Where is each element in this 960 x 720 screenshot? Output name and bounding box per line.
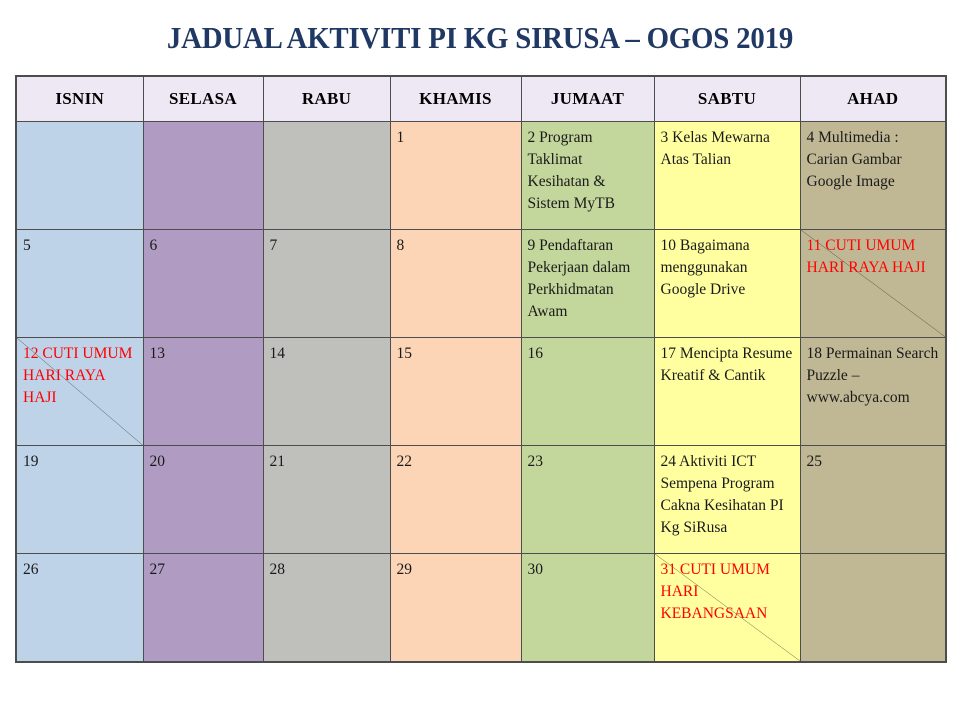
calendar-day-cell[interactable]: 17 Mencipta Resume Kreatif & Cantik: [654, 338, 800, 446]
calendar-day-cell[interactable]: 3 Kelas Mewarna Atas Talian: [654, 122, 800, 230]
calendar-day-content: 13: [144, 338, 263, 365]
calendar-header-label: JUMAAT: [551, 89, 624, 108]
calendar-day-content: [264, 122, 390, 127]
calendar-header-jumaat: JUMAAT: [521, 76, 654, 122]
calendar-day-content: [801, 554, 946, 559]
calendar-day-content: 27: [144, 554, 263, 581]
calendar-header-rabu: RABU: [263, 76, 390, 122]
calendar-header-label: KHAMIS: [419, 89, 492, 108]
calendar-day-content: 5: [17, 230, 143, 257]
calendar-day-content: 6: [144, 230, 263, 257]
calendar-day-content: 19: [17, 446, 143, 473]
calendar-day-content: 1: [391, 122, 521, 149]
calendar-day-cell[interactable]: 31 CUTI UMUM HARI KEBANGSAAN: [654, 554, 800, 663]
calendar-day-content: 14: [264, 338, 390, 365]
calendar-day-cell[interactable]: 9 Pendaftaran Pekerjaan dalam Perkhidmat…: [521, 230, 654, 338]
calendar-day-cell[interactable]: 8: [390, 230, 521, 338]
calendar-day-cell[interactable]: 11 CUTI UMUM HARI RAYA HAJI: [800, 230, 946, 338]
calendar-day-cell[interactable]: 26: [16, 554, 143, 663]
calendar-container: ISNINSELASARABUKHAMISJUMAATSABTUAHAD 12 …: [15, 75, 945, 663]
calendar-day-cell[interactable]: 16: [521, 338, 654, 446]
calendar-header-sabtu: SABTU: [654, 76, 800, 122]
calendar-day-cell[interactable]: 12 CUTI UMUM HARI RAYA HAJI: [16, 338, 143, 446]
calendar-day-content: 21: [264, 446, 390, 473]
calendar-day-cell[interactable]: 2 Program Taklimat Kesihatan & Sistem My…: [521, 122, 654, 230]
calendar-day-content: 15: [391, 338, 521, 365]
calendar-day-cell[interactable]: 24 Aktiviti ICT Sempena Program Cakna Ke…: [654, 446, 800, 554]
calendar-day-cell[interactable]: 19: [16, 446, 143, 554]
calendar-week-row: 12 Program Taklimat Kesihatan & Sistem M…: [16, 122, 946, 230]
calendar-day-content: 17 Mencipta Resume Kreatif & Cantik: [655, 338, 800, 387]
activity-calendar-table: ISNINSELASARABUKHAMISJUMAATSABTUAHAD 12 …: [15, 75, 947, 663]
calendar-day-content: 7: [264, 230, 390, 257]
calendar-day-content: [17, 122, 143, 127]
calendar-day-cell[interactable]: 10 Bagaimana menggunakan Google Drive: [654, 230, 800, 338]
calendar-day-cell[interactable]: 21: [263, 446, 390, 554]
calendar-day-cell[interactable]: 29: [390, 554, 521, 663]
calendar-day-content: 3 Kelas Mewarna Atas Talian: [655, 122, 800, 171]
calendar-day-cell[interactable]: 23: [521, 446, 654, 554]
calendar-day-content: 2 Program Taklimat Kesihatan & Sistem My…: [522, 122, 654, 215]
calendar-day-content: 16: [522, 338, 654, 365]
calendar-day-content: 12 CUTI UMUM HARI RAYA HAJI: [17, 338, 143, 409]
calendar-header-label: SABTU: [698, 89, 756, 108]
calendar-day-content: 11 CUTI UMUM HARI RAYA HAJI: [801, 230, 946, 279]
calendar-day-content: 18 Permainan Search Puzzle – www.abcya.c…: [801, 338, 946, 409]
calendar-day-content: 23: [522, 446, 654, 473]
calendar-day-cell[interactable]: 28: [263, 554, 390, 663]
calendar-page: JADUAL AKTIVITI PI KG SIRUSA – OGOS 2019…: [0, 0, 960, 720]
calendar-header: ISNINSELASARABUKHAMISJUMAATSABTUAHAD: [16, 76, 946, 122]
calendar-header-label: ISNIN: [55, 89, 104, 108]
calendar-day-cell[interactable]: 30: [521, 554, 654, 663]
calendar-week-row: 192021222324 Aktiviti ICT Sempena Progra…: [16, 446, 946, 554]
calendar-day-cell[interactable]: [16, 122, 143, 230]
calendar-day-content: [144, 122, 263, 127]
calendar-header-label: RABU: [302, 89, 351, 108]
calendar-header-khamis: KHAMIS: [390, 76, 521, 122]
calendar-day-cell[interactable]: 14: [263, 338, 390, 446]
calendar-day-cell[interactable]: [800, 554, 946, 663]
calendar-day-content: 10 Bagaimana menggunakan Google Drive: [655, 230, 800, 301]
calendar-day-content: 28: [264, 554, 390, 581]
calendar-header-row: ISNINSELASARABUKHAMISJUMAATSABTUAHAD: [16, 76, 946, 122]
calendar-day-cell[interactable]: 1: [390, 122, 521, 230]
calendar-week-row: 12 CUTI UMUM HARI RAYA HAJI1314151617 Me…: [16, 338, 946, 446]
calendar-day-cell[interactable]: 20: [143, 446, 263, 554]
calendar-day-cell[interactable]: 27: [143, 554, 263, 663]
calendar-day-content: 8: [391, 230, 521, 257]
calendar-week-row: 56789 Pendaftaran Pekerjaan dalam Perkhi…: [16, 230, 946, 338]
calendar-day-content: 25: [801, 446, 946, 473]
calendar-day-cell[interactable]: 25: [800, 446, 946, 554]
calendar-day-cell[interactable]: 13: [143, 338, 263, 446]
calendar-day-cell[interactable]: 15: [390, 338, 521, 446]
calendar-day-cell[interactable]: 5: [16, 230, 143, 338]
calendar-day-content: 9 Pendaftaran Pekerjaan dalam Perkhidmat…: [522, 230, 654, 323]
page-title: JADUAL AKTIVITI PI KG SIRUSA – OGOS 2019: [34, 20, 927, 56]
calendar-day-content: 4 Multimedia : Carian Gambar Google Imag…: [801, 122, 946, 193]
calendar-body: 12 Program Taklimat Kesihatan & Sistem M…: [16, 122, 946, 663]
calendar-day-content: 22: [391, 446, 521, 473]
calendar-day-content: 29: [391, 554, 521, 581]
calendar-header-label: AHAD: [847, 89, 898, 108]
calendar-day-cell[interactable]: 22: [390, 446, 521, 554]
calendar-day-cell[interactable]: 18 Permainan Search Puzzle – www.abcya.c…: [800, 338, 946, 446]
calendar-day-content: 20: [144, 446, 263, 473]
calendar-header-isnin: ISNIN: [16, 76, 143, 122]
calendar-header-ahad: AHAD: [800, 76, 946, 122]
calendar-day-cell[interactable]: 7: [263, 230, 390, 338]
calendar-week-row: 262728293031 CUTI UMUM HARI KEBANGSAAN: [16, 554, 946, 663]
calendar-day-content: 26: [17, 554, 143, 581]
calendar-day-cell[interactable]: 6: [143, 230, 263, 338]
calendar-header-selasa: SELASA: [143, 76, 263, 122]
calendar-header-label: SELASA: [169, 89, 237, 108]
calendar-day-content: 30: [522, 554, 654, 581]
calendar-day-content: 31 CUTI UMUM HARI KEBANGSAAN: [655, 554, 800, 625]
calendar-day-content: 24 Aktiviti ICT Sempena Program Cakna Ke…: [655, 446, 800, 539]
calendar-day-cell[interactable]: [263, 122, 390, 230]
calendar-day-cell[interactable]: [143, 122, 263, 230]
calendar-day-cell[interactable]: 4 Multimedia : Carian Gambar Google Imag…: [800, 122, 946, 230]
